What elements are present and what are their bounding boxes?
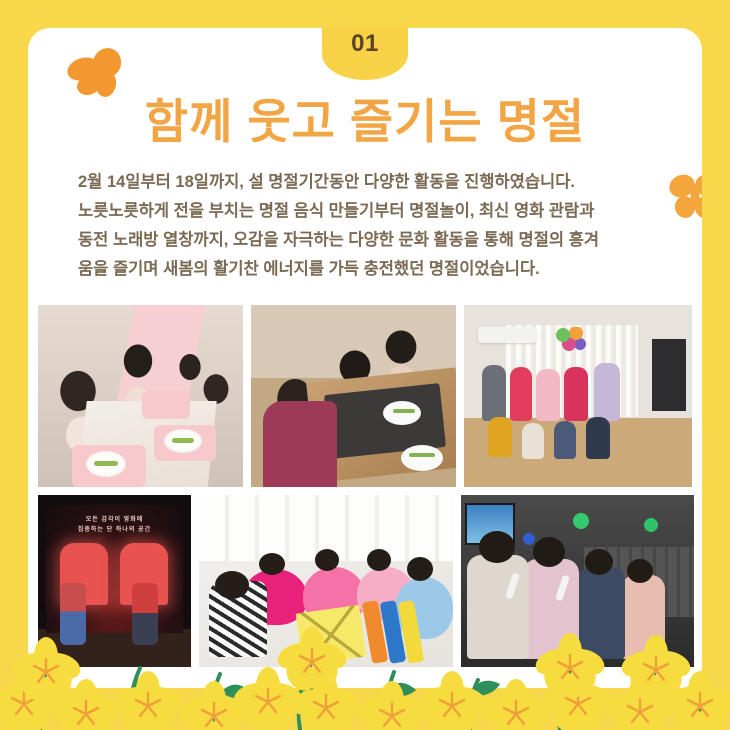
person-shape	[536, 369, 560, 421]
photo-row-top: 아이들이 분홍 식탁에서 명절 음식을 만드는 모습 낮은 나무 상에 둘러앉아…	[38, 305, 692, 487]
body-line: 2월 14일부터 18일까지, 설 명절기간동안 다양한 활동을 진행하였습니다…	[78, 168, 668, 197]
content-card: 01 함께 웃고 즐기는 명절 2월 14일부터 18일까지, 설 명절기간동안…	[28, 28, 702, 688]
person-shape	[564, 367, 588, 421]
photo-yutnori-game[interactable]: 한복을 입고 윷놀이를 하는 아이들	[199, 495, 453, 667]
person-head	[259, 553, 285, 575]
photo-grid: 아이들이 분홍 식탁에서 명절 음식을 만드는 모습 낮은 나무 상에 둘러앉아…	[38, 305, 692, 675]
person-shape	[510, 367, 532, 421]
photo-image	[199, 495, 453, 667]
person-head	[533, 537, 565, 567]
plate	[383, 401, 421, 425]
page-title: 함께 웃고 즐기는 명절	[28, 96, 702, 148]
cinema-sign-line: 모든 감각이 영화에	[38, 515, 191, 525]
poster-canvas: 01 함께 웃고 즐기는 명절 2월 14일부터 18일까지, 설 명절기간동안…	[0, 0, 730, 730]
air-conditioner-shape	[478, 327, 536, 343]
photo-food-making-1[interactable]: 아이들이 분홍 식탁에서 명절 음식을 만드는 모습	[38, 305, 243, 487]
photo-image	[461, 495, 694, 667]
person-shape	[467, 555, 529, 659]
person-shape	[488, 417, 512, 457]
tv-shape	[652, 339, 686, 411]
photo-row-bottom: 모든 감각이 영화에 집중하는 단 하나의 공간 영화관 포토존에서 포즈를 취…	[38, 495, 692, 667]
person-shape	[594, 363, 620, 421]
photo-image	[464, 305, 692, 487]
photo-image: 모든 감각이 영화에 집중하는 단 하나의 공간	[38, 495, 191, 667]
body-line: 동전 노래방 열창까지, 오감을 자극하는 다양한 문화 활동을 통해 명절의 …	[78, 226, 668, 255]
food	[409, 453, 435, 457]
person-shape	[482, 365, 506, 421]
person-head	[367, 549, 391, 571]
person-shape	[586, 417, 610, 459]
person-shape	[60, 583, 86, 645]
body-line: 움을 즐기며 새봄의 활기찬 에너지를 가득 충전했던 명절이었습니다.	[78, 255, 668, 284]
food	[393, 409, 415, 413]
section-number-badge: 01	[322, 28, 408, 80]
cinema-sign-text: 모든 감각이 영화에 집중하는 단 하나의 공간	[38, 515, 191, 535]
balloon-decoration	[556, 327, 586, 353]
person-shape	[577, 567, 625, 659]
body-line: 노릇노릇하게 전을 부치는 명절 음식 만들기부터 명절놀이, 최신 영화 관람…	[78, 197, 668, 226]
food	[172, 438, 194, 443]
person-shape	[132, 583, 158, 645]
photo-cinema-photozone[interactable]: 모든 감각이 영화에 집중하는 단 하나의 공간 영화관 포토존에서 포즈를 취…	[38, 495, 191, 667]
photo-image	[38, 305, 243, 487]
body-paragraph: 2월 14일부터 18일까지, 설 명절기간동안 다양한 활동을 진행하였습니다…	[78, 168, 668, 284]
section-number: 01	[351, 32, 379, 56]
food	[94, 461, 118, 466]
person-shape	[523, 559, 579, 659]
butterfly-icon	[64, 46, 126, 104]
person-head	[627, 559, 653, 583]
placemat	[142, 391, 190, 419]
person-head	[407, 557, 433, 581]
person-shape	[621, 575, 665, 659]
person-shape	[522, 423, 544, 459]
cinema-sign-line: 집중하는 단 하나의 공간	[38, 525, 191, 535]
photo-coin-karaoke[interactable]: 동전 노래방에서 마이크를 들고 노래하는 모습	[461, 495, 694, 667]
person-head	[479, 531, 515, 563]
photo-image	[251, 305, 456, 487]
photo-hanbok-group[interactable]: 한복을 입고 거실에 모여 기념 촬영한 단체 사진	[464, 305, 692, 487]
yut-board	[296, 605, 367, 665]
person-shape	[554, 421, 576, 459]
person-head	[585, 549, 613, 575]
butterfly-icon	[666, 170, 702, 224]
person-head	[315, 549, 339, 571]
person-head	[215, 571, 249, 599]
photo-food-making-2[interactable]: 낮은 나무 상에 둘러앉아 전을 부치는 아이들	[251, 305, 456, 487]
plate	[401, 445, 443, 471]
person-shape	[263, 401, 337, 487]
